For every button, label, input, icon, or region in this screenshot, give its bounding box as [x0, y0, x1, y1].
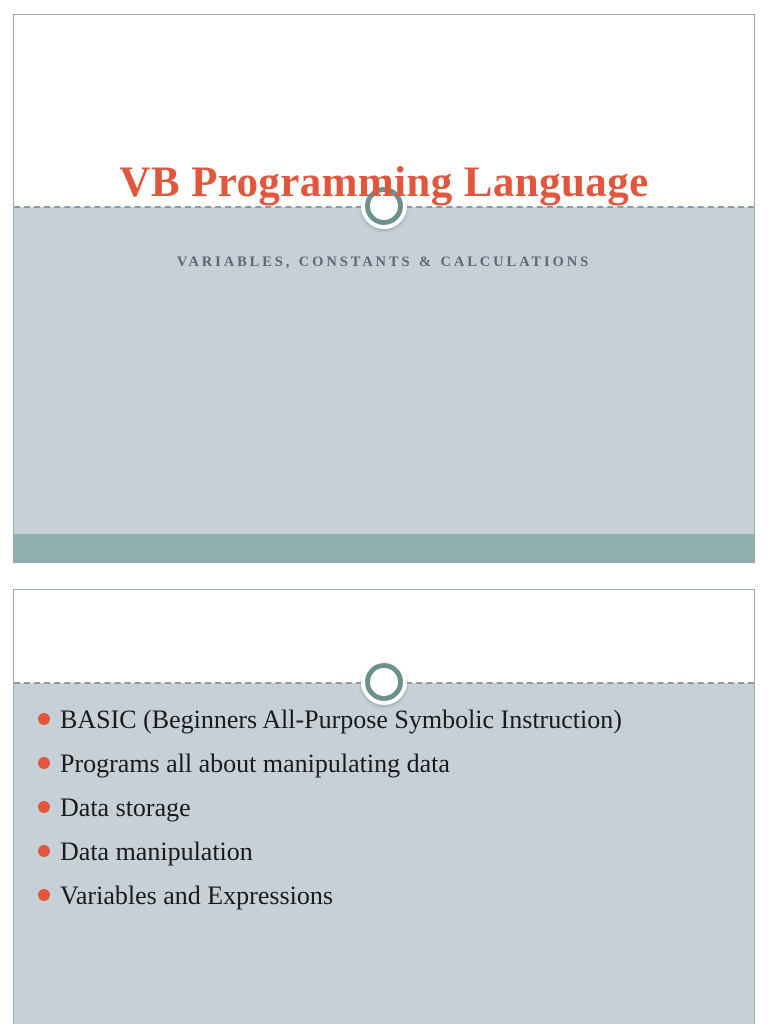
list-item-label: Data manipulation — [60, 837, 253, 866]
slide-2[interactable]: BASIC (Beginners All-Purpose Symbolic In… — [13, 589, 755, 1024]
slide-1-subtitle: VARIABLES, CONSTANTS & CALCULATIONS — [14, 254, 754, 271]
list-item: BASIC (Beginners All-Purpose Symbolic In… — [34, 700, 738, 740]
list-item-label: Data storage — [60, 793, 191, 822]
bullet-dot-icon — [38, 757, 50, 769]
bullet-dot-icon — [38, 713, 50, 725]
bullet-list: BASIC (Beginners All-Purpose Symbolic In… — [34, 700, 738, 920]
slide-deck: VB Programming Language VARIABLES, CONST… — [0, 0, 768, 1024]
list-item-label: Programs all about manipulating data — [60, 749, 450, 778]
list-item: Variables and Expressions — [34, 876, 738, 916]
slide-1[interactable]: VB Programming Language VARIABLES, CONST… — [13, 14, 755, 563]
bullet-dot-icon — [38, 845, 50, 857]
bullet-dot-icon — [38, 801, 50, 813]
list-item: Data storage — [34, 788, 738, 828]
page-title: VB Programming Language — [14, 160, 754, 205]
bullet-dot-icon — [38, 889, 50, 901]
list-item: Data manipulation — [34, 832, 738, 872]
list-item-label: Variables and Expressions — [60, 881, 333, 910]
list-item-label: BASIC (Beginners All-Purpose Symbolic In… — [60, 705, 622, 734]
list-item: Programs all about manipulating data — [34, 744, 738, 784]
slide-2-body-zone: BASIC (Beginners All-Purpose Symbolic In… — [14, 683, 754, 1024]
slide-1-footer-band — [14, 534, 754, 562]
ring-medallion-icon — [361, 659, 407, 705]
